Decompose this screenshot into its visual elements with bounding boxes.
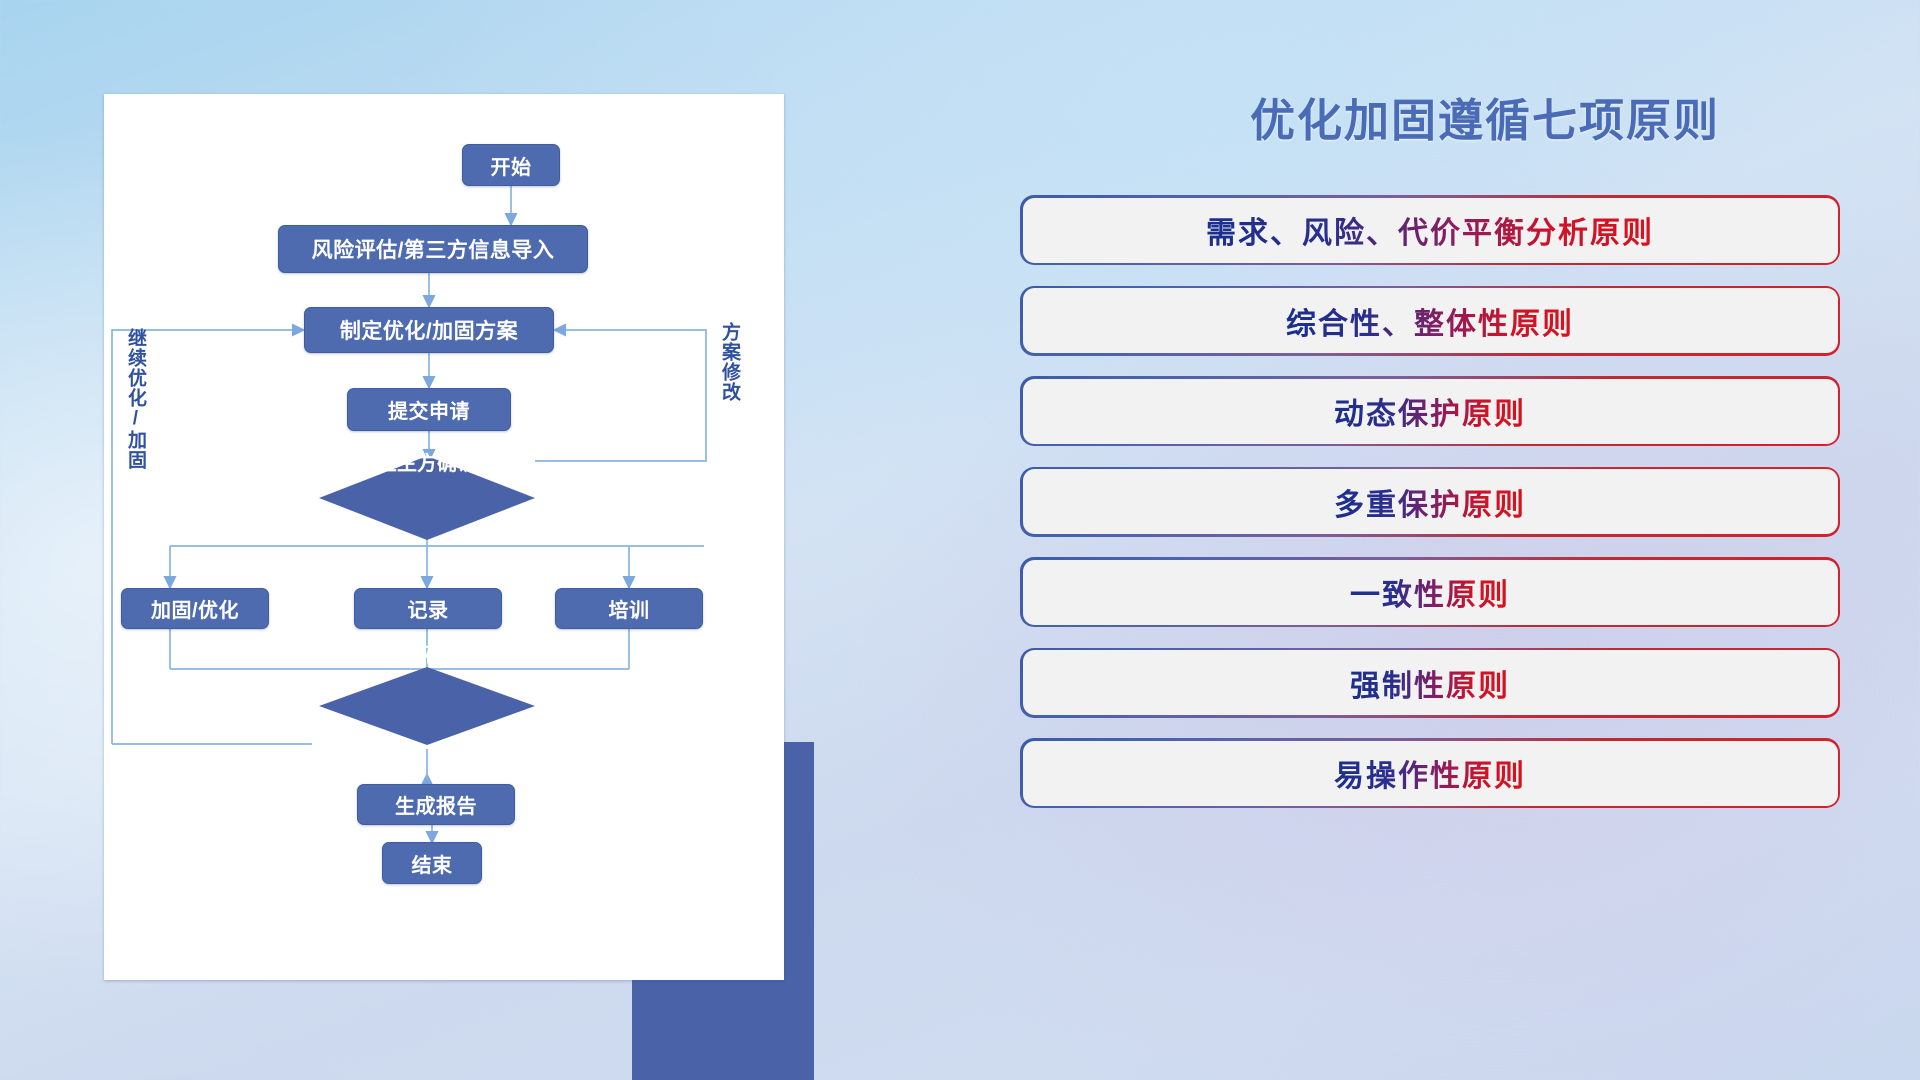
flow-node-training[interactable]: 培训 [555, 588, 703, 629]
flow-node-start[interactable]: 开始 [462, 144, 560, 186]
decision-check-confirm [319, 667, 535, 745]
principle-label: 一致性原则 [1350, 570, 1510, 614]
flow-edge-label-left-loop: 继续优化/加固 [125, 328, 145, 470]
flow-node-end[interactable]: 结束 [382, 842, 482, 884]
page-title: 优化加固遵循七项原则 [1130, 84, 1840, 149]
decision-owner-confirm [319, 456, 535, 540]
principle-card-inner: 动态保护原则 [1023, 379, 1838, 444]
flow-node-record[interactable]: 记录 [354, 588, 502, 629]
principle-card[interactable]: 多重保护原则 [1020, 467, 1840, 537]
principle-card-inner: 强制性原则 [1023, 650, 1838, 715]
principles-column: 优化加固遵循七项原则 需求、风险、代价平衡分析原则 综合性、整体性原则 动态保护… [1020, 84, 1840, 808]
flow-node-report[interactable]: 生成报告 [357, 784, 515, 825]
principle-card-inner: 易操作性原则 [1023, 741, 1838, 806]
flowchart-panel: 开始 风险评估/第三方信息导入 制定优化/加固方案 提交申请 加固/优化 记录 … [104, 94, 784, 980]
principle-label: 易操作性原则 [1334, 751, 1526, 795]
principle-card[interactable]: 综合性、整体性原则 [1020, 286, 1840, 356]
flow-node-plan[interactable]: 制定优化/加固方案 [304, 307, 554, 353]
principle-card-inner: 一致性原则 [1023, 560, 1838, 625]
principle-label: 需求、风险、代价平衡分析原则 [1206, 208, 1654, 252]
flow-node-submit[interactable]: 提交申请 [347, 388, 511, 431]
principle-card-inner: 综合性、整体性原则 [1023, 288, 1838, 353]
principle-label: 综合性、整体性原则 [1286, 299, 1574, 343]
principle-label: 多重保护原则 [1334, 480, 1526, 524]
flow-node-reinforce[interactable]: 加固/优化 [121, 588, 269, 629]
flow-edge-label-right-loop: 方案修改 [719, 322, 739, 402]
principles-card-list: 需求、风险、代价平衡分析原则 综合性、整体性原则 动态保护原则 多重保护原则 一… [1020, 195, 1840, 808]
principle-card[interactable]: 强制性原则 [1020, 648, 1840, 718]
principle-label: 强制性原则 [1350, 661, 1510, 705]
flow-node-risk[interactable]: 风险评估/第三方信息导入 [278, 225, 588, 273]
principle-card-inner: 多重保护原则 [1023, 469, 1838, 534]
principle-card[interactable]: 易操作性原则 [1020, 738, 1840, 808]
principle-card[interactable]: 一致性原则 [1020, 557, 1840, 627]
principle-card-inner: 需求、风险、代价平衡分析原则 [1023, 198, 1838, 263]
principle-card[interactable]: 需求、风险、代价平衡分析原则 [1020, 195, 1840, 265]
principle-label: 动态保护原则 [1334, 389, 1526, 433]
principle-card[interactable]: 动态保护原则 [1020, 376, 1840, 446]
flowchart-panel-wrapper: 开始 风险评估/第三方信息导入 制定优化/加固方案 提交申请 加固/优化 记录 … [104, 94, 784, 984]
